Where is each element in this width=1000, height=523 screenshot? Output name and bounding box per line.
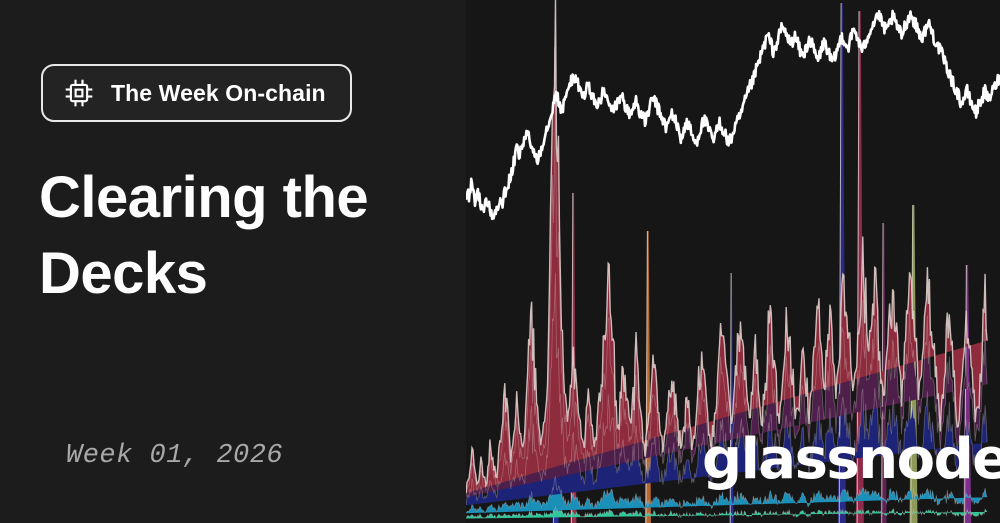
page-title: Clearing the Decks xyxy=(39,160,439,312)
week-label: Week 01, 2026 xyxy=(66,441,283,471)
series-badge-label: The Week On-chain xyxy=(111,80,326,107)
week-on-chain-cover-card: The Week On-chain Clearing the Decks Wee… xyxy=(0,0,1000,523)
cpu-chip-icon xyxy=(64,78,94,108)
price-line-series xyxy=(466,11,1000,219)
page-title-line-2: Decks xyxy=(39,236,439,312)
page-title-line-1: Clearing the xyxy=(39,160,439,236)
left-text-panel: The Week On-chain Clearing the Decks Wee… xyxy=(0,0,466,523)
series-badge[interactable]: The Week On-chain xyxy=(41,64,352,122)
chart-panel: glassnode xyxy=(466,0,1000,523)
glassnode-logo: glassnode xyxy=(702,432,1000,488)
